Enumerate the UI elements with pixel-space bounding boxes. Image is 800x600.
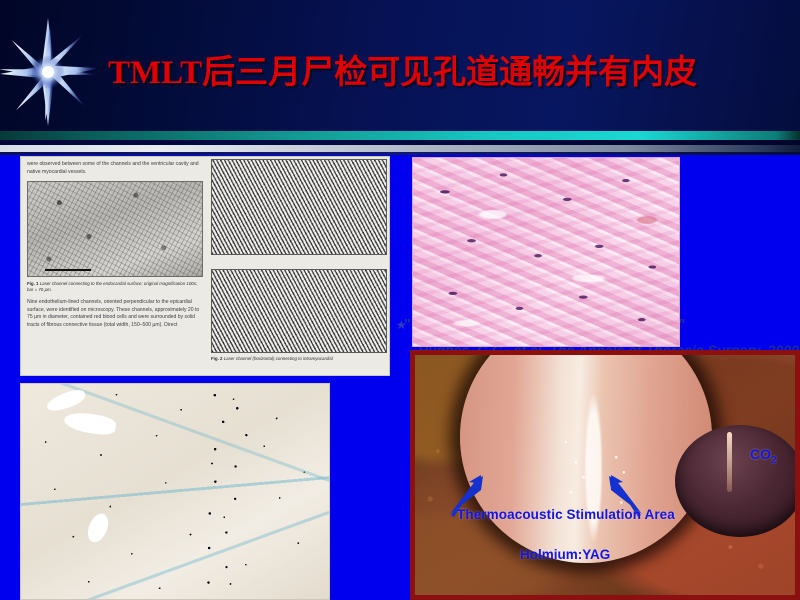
journal-body-text: Nine endothelium-lined channels, oriente… bbox=[27, 299, 203, 329]
journal-right-column: Fig. 2 Laser channel (horizontal) connec… bbox=[211, 159, 387, 373]
starburst-icon bbox=[0, 16, 112, 128]
figure-2-label: Fig. 2 bbox=[211, 356, 222, 361]
label-co2-text: CO bbox=[750, 446, 771, 462]
label-holmium-yag: Holmium:YAG bbox=[520, 547, 610, 562]
header-accent-silver-band bbox=[0, 145, 800, 152]
endoscopic-dome-tissue bbox=[675, 425, 800, 537]
label-co2: CO2 bbox=[750, 446, 777, 466]
label-co2-subscript: 2 bbox=[771, 455, 777, 466]
figure-2-micrograph-top bbox=[211, 159, 387, 255]
journal-figure-scan: were observed between some of the channe… bbox=[20, 156, 390, 376]
presentation-slide: TMLT后三月尸检可见孔道通畅并有内皮 were observed betwee… bbox=[0, 0, 800, 600]
label-thermoacoustic-stimulation-area: Thermoacoustic Stimulation Area bbox=[457, 507, 675, 522]
figure-2-caption: Fig. 2 Laser channel (horizontal) connec… bbox=[211, 356, 387, 362]
he-stained-histology bbox=[412, 157, 680, 347]
scale-bar bbox=[45, 269, 90, 271]
figure-1-label: Fig. 1 bbox=[27, 281, 38, 286]
figure-2-caption-text: Laser channel (horizontal) connecting to… bbox=[224, 356, 333, 361]
figure-1-caption-text: Laser channel connecting to the endocard… bbox=[27, 281, 197, 292]
figure-1-caption: Fig. 1 Laser channel connecting to the e… bbox=[27, 281, 203, 293]
journal-top-text: were observed between some of the channe… bbox=[27, 161, 203, 176]
trichrome-histology bbox=[20, 383, 330, 600]
endoscopic-photo: Thermoacoustic Stimulation Area Holmium:… bbox=[410, 350, 800, 600]
he-texture bbox=[413, 158, 679, 346]
journal-left-column: were observed between some of the channe… bbox=[27, 161, 203, 373]
header-accent-edge-band bbox=[0, 152, 800, 155]
header-accent-teal-band bbox=[0, 131, 800, 140]
figure-2-micrograph-bottom bbox=[211, 269, 387, 353]
figure-1-micrograph bbox=[27, 181, 203, 277]
page-title: TMLT后三月尸检可见孔道通畅并有内皮 bbox=[108, 52, 768, 94]
